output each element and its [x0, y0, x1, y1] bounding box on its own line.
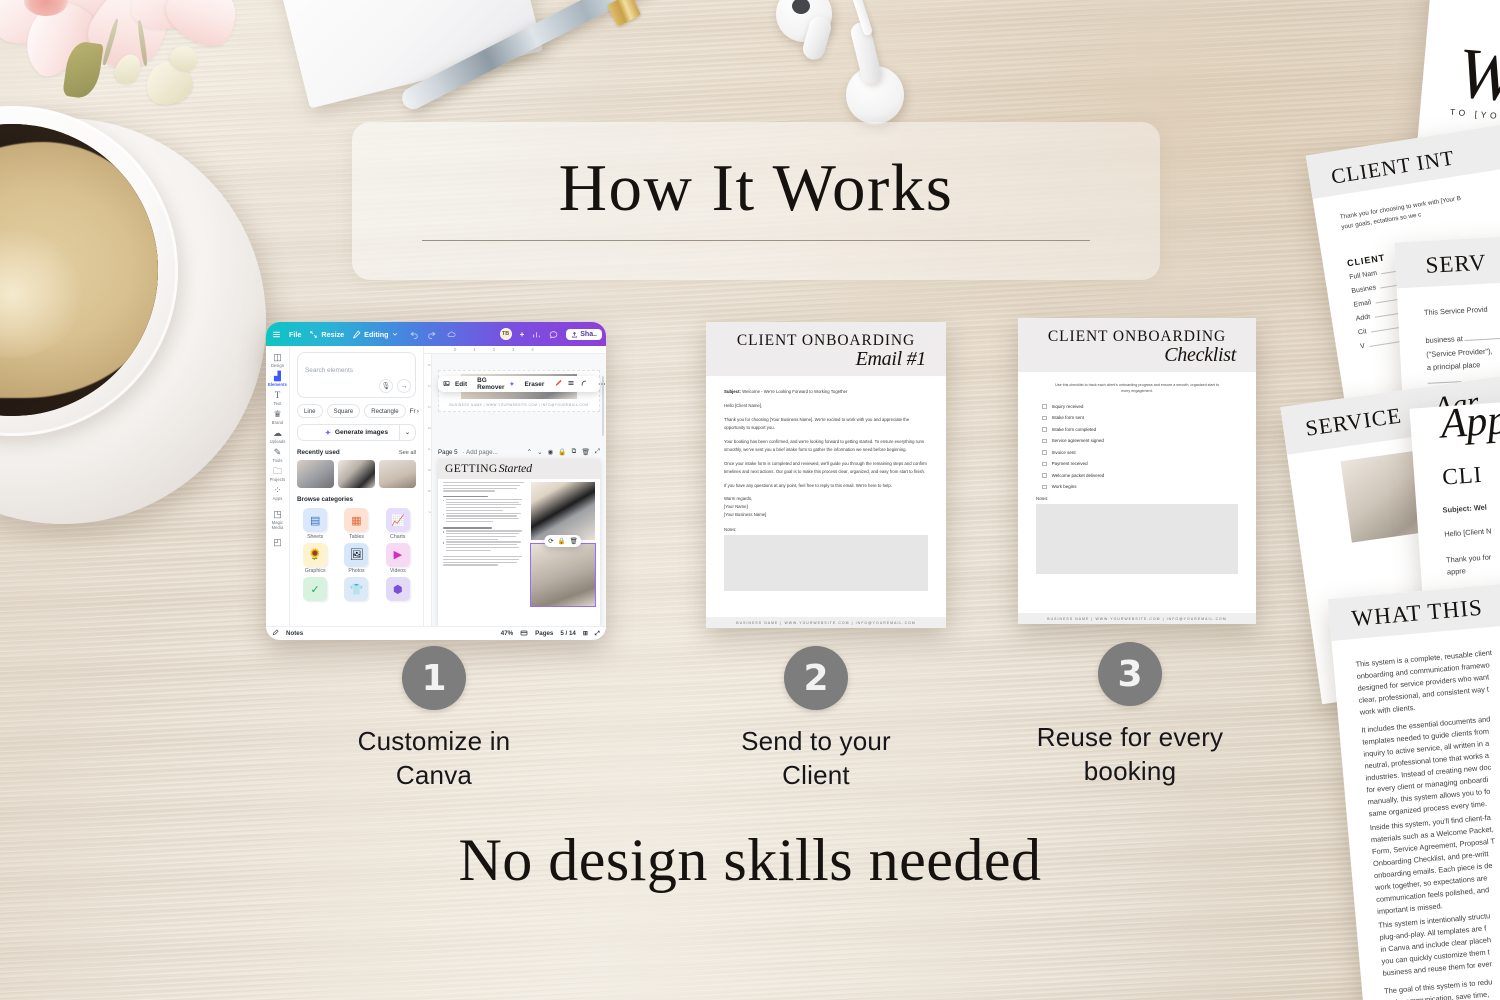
share-button[interactable]: Sha.. — [566, 329, 602, 340]
arrow-right-icon[interactable]: → — [397, 379, 411, 393]
add-page-button[interactable]: · Add page... — [463, 449, 498, 456]
checklist-item[interactable]: Work begins — [1042, 484, 1238, 489]
recently-used-header: Recently used See all — [297, 449, 416, 456]
sidebar-item-brand[interactable]: ♛ Brand — [267, 409, 289, 425]
checkbox[interactable] — [1042, 450, 1047, 455]
chip-square[interactable]: Square — [327, 404, 361, 418]
image-context-toolbar[interactable]: Edit BG Remover ✦ Eraser — [438, 376, 600, 392]
sidebar-item-design[interactable]: ◫ Design — [267, 352, 289, 368]
recently-used-thumbnails[interactable] — [297, 460, 416, 488]
insights-icon[interactable] — [532, 330, 541, 339]
laptop-photo[interactable]: ⟳ 🔒 🗑 — [531, 482, 595, 540]
pages-button[interactable]: Pages — [535, 630, 553, 637]
packet-line: Hello [Client N — [1444, 525, 1492, 540]
checkbox[interactable] — [1042, 439, 1047, 444]
canva-workspace: ◫ Design ▟ Elements T Text ♛ Brand ☁ U — [266, 346, 606, 640]
pages-icon[interactable] — [520, 629, 528, 639]
expand-icon[interactable]: ⤢ — [595, 448, 600, 456]
step-2-label: Send to yourClient — [688, 724, 944, 793]
sidebar-item-tools[interactable]: ✎ Tools — [267, 447, 289, 463]
zoom-level[interactable]: 47% — [501, 630, 513, 637]
checklist-body: Use this checklist to track each client'… — [1018, 372, 1256, 574]
packet-title: CLI — [1441, 462, 1483, 491]
checklist-item[interactable]: Welcome packet delivered — [1042, 473, 1238, 478]
email-notes-label: Notes: — [724, 527, 928, 532]
category-tables[interactable]: ▦ Tables — [338, 508, 374, 540]
generate-images-button[interactable]: ✦ Generate images ⌄ — [297, 424, 416, 441]
sparkle-icon: ✦ — [325, 429, 331, 437]
chip-rectangle[interactable]: Rectangle — [364, 404, 405, 418]
refresh-icon[interactable]: ⟳ — [548, 537, 553, 545]
page-heading: GETTINGStarted — [445, 461, 532, 476]
element-type-chips[interactable]: Line Square Rectangle Fr› — [297, 404, 416, 418]
title-divider — [422, 240, 1090, 241]
canva-top-toolbar[interactable]: File Resize Editing TB + — [266, 322, 606, 346]
subject-label: Subject: — [724, 389, 741, 394]
email-title-script: Email #1 — [856, 348, 926, 371]
email-footer: BUSINESS NAME | WWW.YOURWEBSITE.COM | IN… — [706, 617, 946, 628]
email-notes-box[interactable] — [724, 535, 928, 591]
sidebar-item-elements[interactable]: ▟ Elements — [267, 371, 289, 387]
screenshot-canvas: How It Works File Resize Editing — [0, 0, 1500, 1000]
sidebar-item-apps[interactable]: ⁘ Apps — [267, 485, 289, 501]
page-header-band: GETTINGStarted — [438, 459, 600, 479]
page-text-column — [443, 482, 527, 623]
service-title: SERV — [1425, 250, 1487, 279]
generate-images-label: Generate images — [335, 429, 388, 436]
header-banner: How It Works — [352, 122, 1160, 280]
page-controls-row[interactable]: Page 5 · Add page... ⌃ ⌄ ◉ 🔒 ⧉ 🗑 ⤢ — [438, 446, 600, 458]
canva-resize-label: Resize — [321, 330, 344, 339]
text-icon: T — [267, 390, 289, 400]
apps-icon: ⁘ — [267, 485, 289, 495]
checklist-item[interactable]: Intake form sent — [1042, 415, 1238, 420]
sidebar-item-projects[interactable]: 🗀 Projects — [267, 466, 289, 482]
intake-section-label: CLIENT — [1346, 252, 1386, 268]
email-header-band: CLIENT ONBOARDING Email #1 — [706, 322, 946, 376]
checkbox[interactable] — [1042, 427, 1047, 432]
email-paragraph: Thank you for choosing [Your Business Na… — [724, 416, 928, 432]
trash-icon[interactable]: 🗑 — [570, 537, 578, 545]
step-2: 2 Send to yourClient — [688, 646, 944, 793]
category-extra-2[interactable]: 👕 — [338, 577, 374, 601]
checklist-notes-box[interactable] — [1036, 504, 1238, 574]
step-3-number: 3 — [1098, 642, 1162, 706]
email-body: Subject: Welcome - We're Looking Forward… — [706, 376, 946, 591]
page-5-card[interactable]: GETTINGStarted — [438, 459, 600, 626]
cloud-icon[interactable] — [447, 330, 456, 339]
see-all-link[interactable]: See all — [399, 450, 416, 456]
brand-icon: ♛ — [267, 409, 289, 419]
fullscreen-icon[interactable]: ⤢ — [595, 630, 600, 638]
uploads-icon: ☁ — [267, 428, 289, 438]
page-title: How It Works — [352, 150, 1160, 227]
recently-used-label: Recently used — [297, 449, 340, 456]
canva-sidebar[interactable]: ◫ Design ▟ Elements T Text ♛ Brand ☁ U — [266, 346, 290, 640]
step-2-number: 2 — [784, 646, 848, 710]
comment-icon[interactable] — [549, 330, 558, 339]
notes-icon[interactable] — [272, 629, 279, 638]
client-onboarding-checklist-page[interactable]: CLIENT ONBOARDING Checklist Use this che… — [1018, 318, 1256, 624]
step-1-number: 1 — [402, 646, 466, 710]
tables-icon: ▦ — [344, 508, 368, 532]
browse-categories-header: Browse categories — [297, 496, 416, 503]
category-extra-1[interactable]: ✓ — [297, 577, 333, 601]
sheets-icon: ▤ — [303, 508, 327, 532]
checkbox[interactable] — [1042, 485, 1047, 490]
sidebar-item-more[interactable]: ◰ — [267, 537, 289, 547]
shapes-3d-icon: ⬢ — [386, 577, 410, 601]
email-paragraph: If you have any questions at any point, … — [724, 482, 928, 490]
brush-icon[interactable] — [554, 379, 562, 389]
checklist-notes-label: Notes: — [1036, 496, 1238, 501]
check-icon: ✓ — [303, 577, 327, 601]
sidebar-item-uploads[interactable]: ☁ Uploads — [267, 428, 289, 444]
search-input[interactable]: Search elements 🎙 → — [297, 352, 416, 398]
graphics-icon: 🌻 — [303, 543, 327, 567]
tagline: No design skills needed — [0, 826, 1500, 895]
email-paragraph: Your booking has been confirmed, and we'… — [724, 438, 928, 454]
lock-icon[interactable]: 🔒 — [558, 537, 566, 545]
eraser-button[interactable]: Eraser — [524, 381, 544, 388]
plus-icon[interactable]: + — [520, 330, 525, 339]
checklist-item[interactable]: Payment received — [1042, 461, 1238, 466]
category-extra-3[interactable]: ⬢ — [380, 577, 416, 601]
avatar[interactable]: TB — [500, 328, 512, 340]
more-icon: ◰ — [267, 537, 289, 547]
canva-file-menu[interactable]: File — [289, 330, 301, 339]
canva-canvas-area[interactable]: 0 1 2 3 4 0 1 2 3 4 5 6 7 BUSINESS NAME … — [424, 346, 606, 640]
design-icon: ◫ — [267, 352, 289, 362]
page-image-column: ⟳ 🔒 🗑 — [531, 482, 595, 623]
page-content: ⟳ 🔒 🗑 — [438, 479, 600, 626]
step-1-label: Customize inCanva — [306, 724, 562, 793]
checklist-item[interactable]: Intake form completed — [1042, 427, 1238, 432]
category-sheets[interactable]: ▤ Sheets — [297, 508, 333, 540]
sparkle-icon: ✦ — [509, 381, 514, 388]
list-item[interactable] — [379, 460, 416, 488]
category-grid[interactable]: ▤ Sheets ▦ Tables 📈 Charts 🌻 Graphics — [297, 508, 416, 601]
lock-icon[interactable]: 🔒 — [558, 448, 566, 456]
chevron-right-icon: › — [417, 408, 419, 415]
page-count: 5 / 14 — [560, 630, 575, 637]
browse-categories-label: Browse categories — [297, 496, 353, 503]
step-3-label: Reuse for everybooking — [1002, 720, 1258, 789]
chevron-up-icon[interactable]: ⌃ — [527, 448, 533, 456]
email-greeting: Hello [Client Name], — [724, 402, 928, 410]
email-subject-line: Subject: Welcome - We're Looking Forward… — [724, 388, 928, 396]
canva-status-bar[interactable]: Notes 47% Pages 5 / 14 ⊞ ⤢ — [266, 626, 606, 640]
subject-value: Welcome - We're Looking Forward to Worki… — [742, 389, 847, 394]
blank-line — [1465, 336, 1500, 341]
duplicate-icon[interactable]: ⧉ — [572, 448, 577, 456]
canva-resize-button[interactable]: Resize — [309, 330, 344, 339]
service-paragraph: This Service Provid — [1424, 296, 1500, 319]
share-label: Sha.. — [580, 331, 597, 338]
service-paragraph: a principal place — [1427, 359, 1481, 374]
checklist-item[interactable]: Service agreement signed — [1042, 438, 1238, 443]
service-paragraph: business at — [1425, 324, 1500, 347]
checklist-title-script: Checklist — [1164, 344, 1236, 367]
photos-icon: 🖼 — [344, 543, 368, 567]
ellipsis-icon[interactable]: ··· — [598, 381, 606, 388]
checkbox[interactable] — [1042, 473, 1047, 478]
search-placeholder: Search elements — [305, 367, 353, 374]
category-photos[interactable]: 🖼 Photos — [338, 543, 374, 575]
checkbox[interactable] — [1042, 462, 1047, 467]
apparel-icon: 👕 — [344, 577, 368, 601]
edit-label[interactable]: Edit — [455, 381, 467, 388]
canva-editing-mode[interactable]: Editing — [352, 330, 397, 339]
checklist-header-band: CLIENT ONBOARDING Checklist — [1018, 318, 1256, 372]
service-paragraph: ("Service Provider"), — [1426, 345, 1493, 360]
curve-icon[interactable] — [580, 379, 588, 389]
client-onboarding-email-page[interactable]: CLIENT ONBOARDING Email #1 Subject: Welc… — [706, 322, 946, 628]
category-charts[interactable]: 📈 Charts — [380, 508, 416, 540]
what-paragraph: It includes the essential documents and … — [1361, 702, 1500, 820]
email-signoff: Warm regards, [Your Name] [Your Business… — [724, 495, 928, 519]
page-label: Page 5 — [438, 449, 458, 456]
paragraph-lines — [443, 482, 527, 492]
notes-button[interactable]: Notes — [286, 630, 303, 637]
step-1: 1 Customize inCanva — [306, 646, 562, 793]
image-quick-tools[interactable]: ⟳ 🔒 🗑 — [544, 535, 581, 547]
canva-editor-mockup[interactable]: File Resize Editing TB + — [266, 322, 606, 640]
bg-remover-button[interactable]: BG Remover — [477, 377, 504, 391]
magic-media-icon: ◳ — [267, 509, 289, 519]
list-item[interactable] — [297, 460, 334, 488]
checklist-footer: BUSINESS NAME | WWW.YOURWEBSITE.COM | IN… — [1018, 613, 1256, 624]
checkbox[interactable] — [1042, 416, 1047, 421]
tools-icon: ✎ — [267, 447, 289, 457]
videos-icon: ▶ — [386, 543, 410, 567]
what-paragraph: This system is a complete, reusable clie… — [1355, 637, 1500, 719]
step-3: 3 Reuse for everybooking — [1002, 642, 1258, 789]
welcome-script-heading: W — [1454, 31, 1500, 119]
undo-icon[interactable] — [410, 330, 419, 339]
packet-line: Thank you for appre — [1446, 551, 1493, 578]
charts-icon: 📈 — [386, 508, 410, 532]
redo-icon[interactable] — [427, 330, 436, 339]
sidebar-item-magic-media[interactable]: ◳ Magic Media — [267, 509, 289, 530]
sidebar-item-text[interactable]: T Text — [267, 390, 289, 406]
projects-icon: 🗀 — [267, 466, 289, 476]
image-edit-icon[interactable] — [443, 380, 450, 389]
checklist-intro: Use this checklist to track each client'… — [1036, 382, 1238, 395]
elements-icon: ▟ — [267, 371, 289, 381]
eye-icon[interactable]: ◉ — [548, 448, 554, 456]
preview-footer: BUSINESS NAME | WWW.YOURWEBSITE.COM | IN… — [439, 403, 599, 407]
category-videos[interactable]: ▶ Videos — [380, 543, 416, 575]
checkbox[interactable] — [1042, 404, 1047, 409]
grid-icon[interactable]: ⊞ — [583, 630, 588, 637]
chevron-down-icon[interactable]: ⌄ — [537, 448, 543, 456]
cup-interior — [0, 124, 158, 416]
canva-editing-label: Editing — [364, 330, 388, 339]
list-item[interactable] — [338, 460, 375, 488]
trash-icon[interactable]: 🗑 — [581, 448, 589, 456]
packet-subject: Subject: Wel — [1442, 502, 1487, 517]
chip-line[interactable]: Line — [297, 404, 323, 418]
canva-elements-panel[interactable]: Search elements 🎙 → Line Square Rectangl… — [290, 346, 424, 640]
checklist-item[interactable]: Invoice sent — [1042, 450, 1238, 455]
chevron-down-icon[interactable]: ⌄ — [399, 425, 415, 440]
email-paragraph: Once your intake form is completed and r… — [724, 460, 928, 476]
desk-photo-selected[interactable] — [531, 544, 595, 606]
lines-icon[interactable] — [567, 379, 575, 389]
checklist-item[interactable]: Inquiry received — [1042, 404, 1238, 409]
horizontal-ruler: 0 1 2 3 4 — [424, 346, 606, 354]
menu-icon[interactable] — [272, 330, 281, 339]
category-graphics[interactable]: 🌻 Graphics — [297, 543, 333, 575]
vertical-ruler: 0 1 2 3 4 5 6 7 — [424, 354, 432, 640]
microphone-icon[interactable]: 🎙 — [379, 379, 393, 393]
chip-more[interactable]: Fr› — [410, 408, 419, 415]
